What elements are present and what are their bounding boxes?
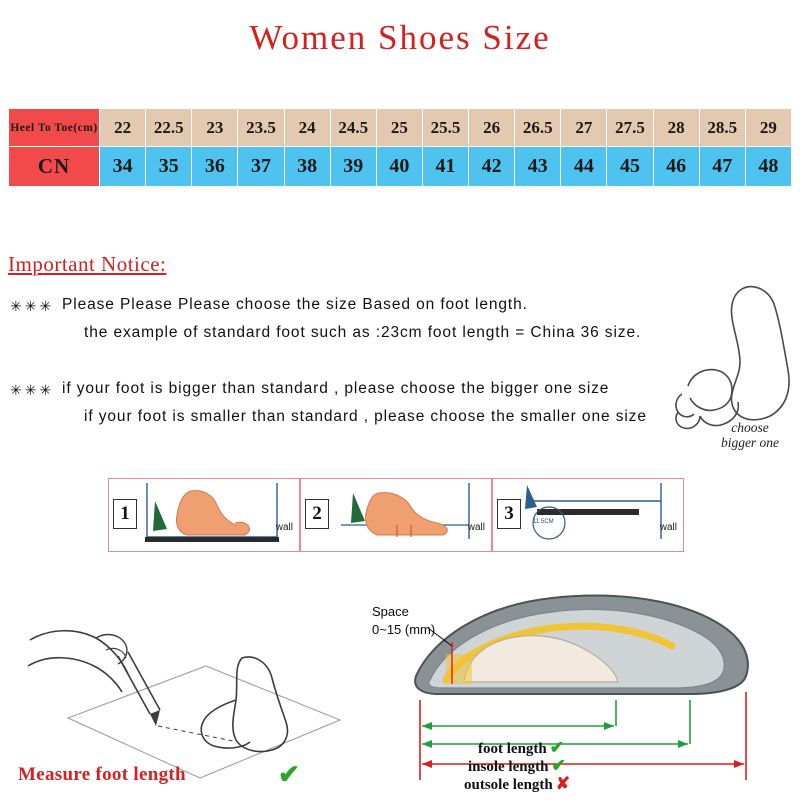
step-1-wall-label: wall (276, 522, 293, 533)
notice-bullet-1: ✳✳✳ (10, 298, 54, 315)
choose-bigger-line-1: choose (690, 420, 800, 435)
cell-cn-14: 48 (745, 147, 791, 187)
table-row-cn: CN 34 35 36 37 38 39 40 41 42 43 44 45 4… (9, 147, 792, 187)
cell-cn-12: 46 (653, 147, 699, 187)
step-panel-1: 1 wall (108, 478, 300, 552)
cell-cn-11: 45 (607, 147, 653, 187)
cell-cn-10: 44 (561, 147, 607, 187)
cell-heel-6: 25 (376, 109, 422, 147)
cell-cn-1: 35 (146, 147, 192, 187)
cell-cn-8: 42 (469, 147, 515, 187)
cell-cn-13: 47 (699, 147, 745, 187)
step-panel-2: 2 wall (300, 478, 492, 552)
cell-heel-0: 22 (100, 109, 146, 147)
row-label-heel-to-toe: Heel To Toe(cm) (9, 109, 100, 147)
table-row-heel-to-toe: Heel To Toe(cm) 22 22.5 23 23.5 24 24.5 … (9, 109, 792, 147)
legend-insole-length: insole length✔ (468, 756, 566, 776)
choose-bigger-line-2: bigger one (690, 435, 800, 450)
legend-foot-length-text: foot length (478, 741, 547, 757)
cell-heel-13: 28.5 (699, 109, 745, 147)
cell-cn-6: 40 (376, 147, 422, 187)
space-label-line-2: 0~15 (mm) (372, 622, 435, 637)
cell-cn-5: 39 (330, 147, 376, 187)
legend-insole-length-text: insole length (468, 759, 548, 775)
step-2-illustration (301, 479, 491, 551)
page-title-text: Women Shoes Size (243, 18, 556, 57)
legend-foot-length: foot length✔ (478, 738, 564, 758)
row-label-cn: CN (9, 147, 100, 187)
cell-heel-3: 23.5 (238, 109, 284, 147)
legend-outsole-length-mark: ✘ (556, 774, 570, 793)
cell-cn-7: 41 (422, 147, 468, 187)
cell-heel-11: 27.5 (607, 109, 653, 147)
notice-line-2a: if your foot is bigger than standard , p… (62, 380, 609, 398)
cell-cn-0: 34 (100, 147, 146, 187)
size-chart-table: Heel To Toe(cm) 22 22.5 23 23.5 24 24.5 … (8, 108, 792, 187)
measure-check-icon: ✔ (278, 759, 300, 790)
measure-foot-length-panel: Measure foot length ✔ (10, 570, 355, 792)
choose-bigger-annotation: choose bigger one (690, 420, 800, 450)
step-3-illustration (493, 479, 683, 551)
cell-heel-4: 24 (284, 109, 330, 147)
legend-outsole-length-text: outsole length (464, 777, 553, 793)
step-3-wall-label: wall (660, 522, 677, 533)
notice-line-2b: if your foot is smaller than standard , … (84, 408, 647, 426)
notice-bullet-2: ✳✳✳ (10, 382, 54, 399)
measure-foot-length-caption: Measure foot length (18, 764, 186, 786)
cell-heel-5: 24.5 (330, 109, 376, 147)
shoe-cross-section-illustration (360, 580, 796, 792)
step-3-ruler-value: 11.5CM (533, 519, 554, 525)
cell-cn-4: 38 (284, 147, 330, 187)
legend-insole-length-mark: ✔ (551, 756, 565, 775)
page-title-bar: Women Shoes Size (0, 18, 800, 70)
cell-heel-8: 26 (469, 109, 515, 147)
cell-cn-3: 37 (238, 147, 284, 187)
cell-cn-9: 43 (515, 147, 561, 187)
measure-foot-illustration (10, 570, 355, 792)
cell-heel-14: 29 (745, 109, 791, 147)
space-label-line-1: Space (372, 604, 409, 619)
shoe-cross-section-panel: Space 0~15 (mm) foot length✔ insole leng… (360, 580, 796, 792)
cell-cn-2: 36 (192, 147, 238, 187)
notice-title: Important Notice: (8, 252, 166, 277)
cell-heel-9: 26.5 (515, 109, 561, 147)
notice-line-1a: Please Please Please choose the size Bas… (62, 296, 528, 314)
cell-heel-1: 22.5 (146, 109, 192, 147)
step-panel-3: 3 wall 11.5CM (492, 478, 684, 552)
page-title: Women Shoes Size (0, 18, 800, 58)
step-2-wall-label: wall (468, 522, 485, 533)
cell-heel-10: 27 (561, 109, 607, 147)
step-1-illustration (109, 479, 299, 551)
cell-heel-12: 28 (653, 109, 699, 147)
notice-line-1b: the example of standard foot such as :23… (84, 324, 641, 342)
cell-heel-7: 25.5 (422, 109, 468, 147)
legend-outsole-length: outsole length✘ (464, 774, 570, 794)
legend-foot-length-mark: ✔ (550, 738, 564, 757)
cell-heel-2: 23 (192, 109, 238, 147)
